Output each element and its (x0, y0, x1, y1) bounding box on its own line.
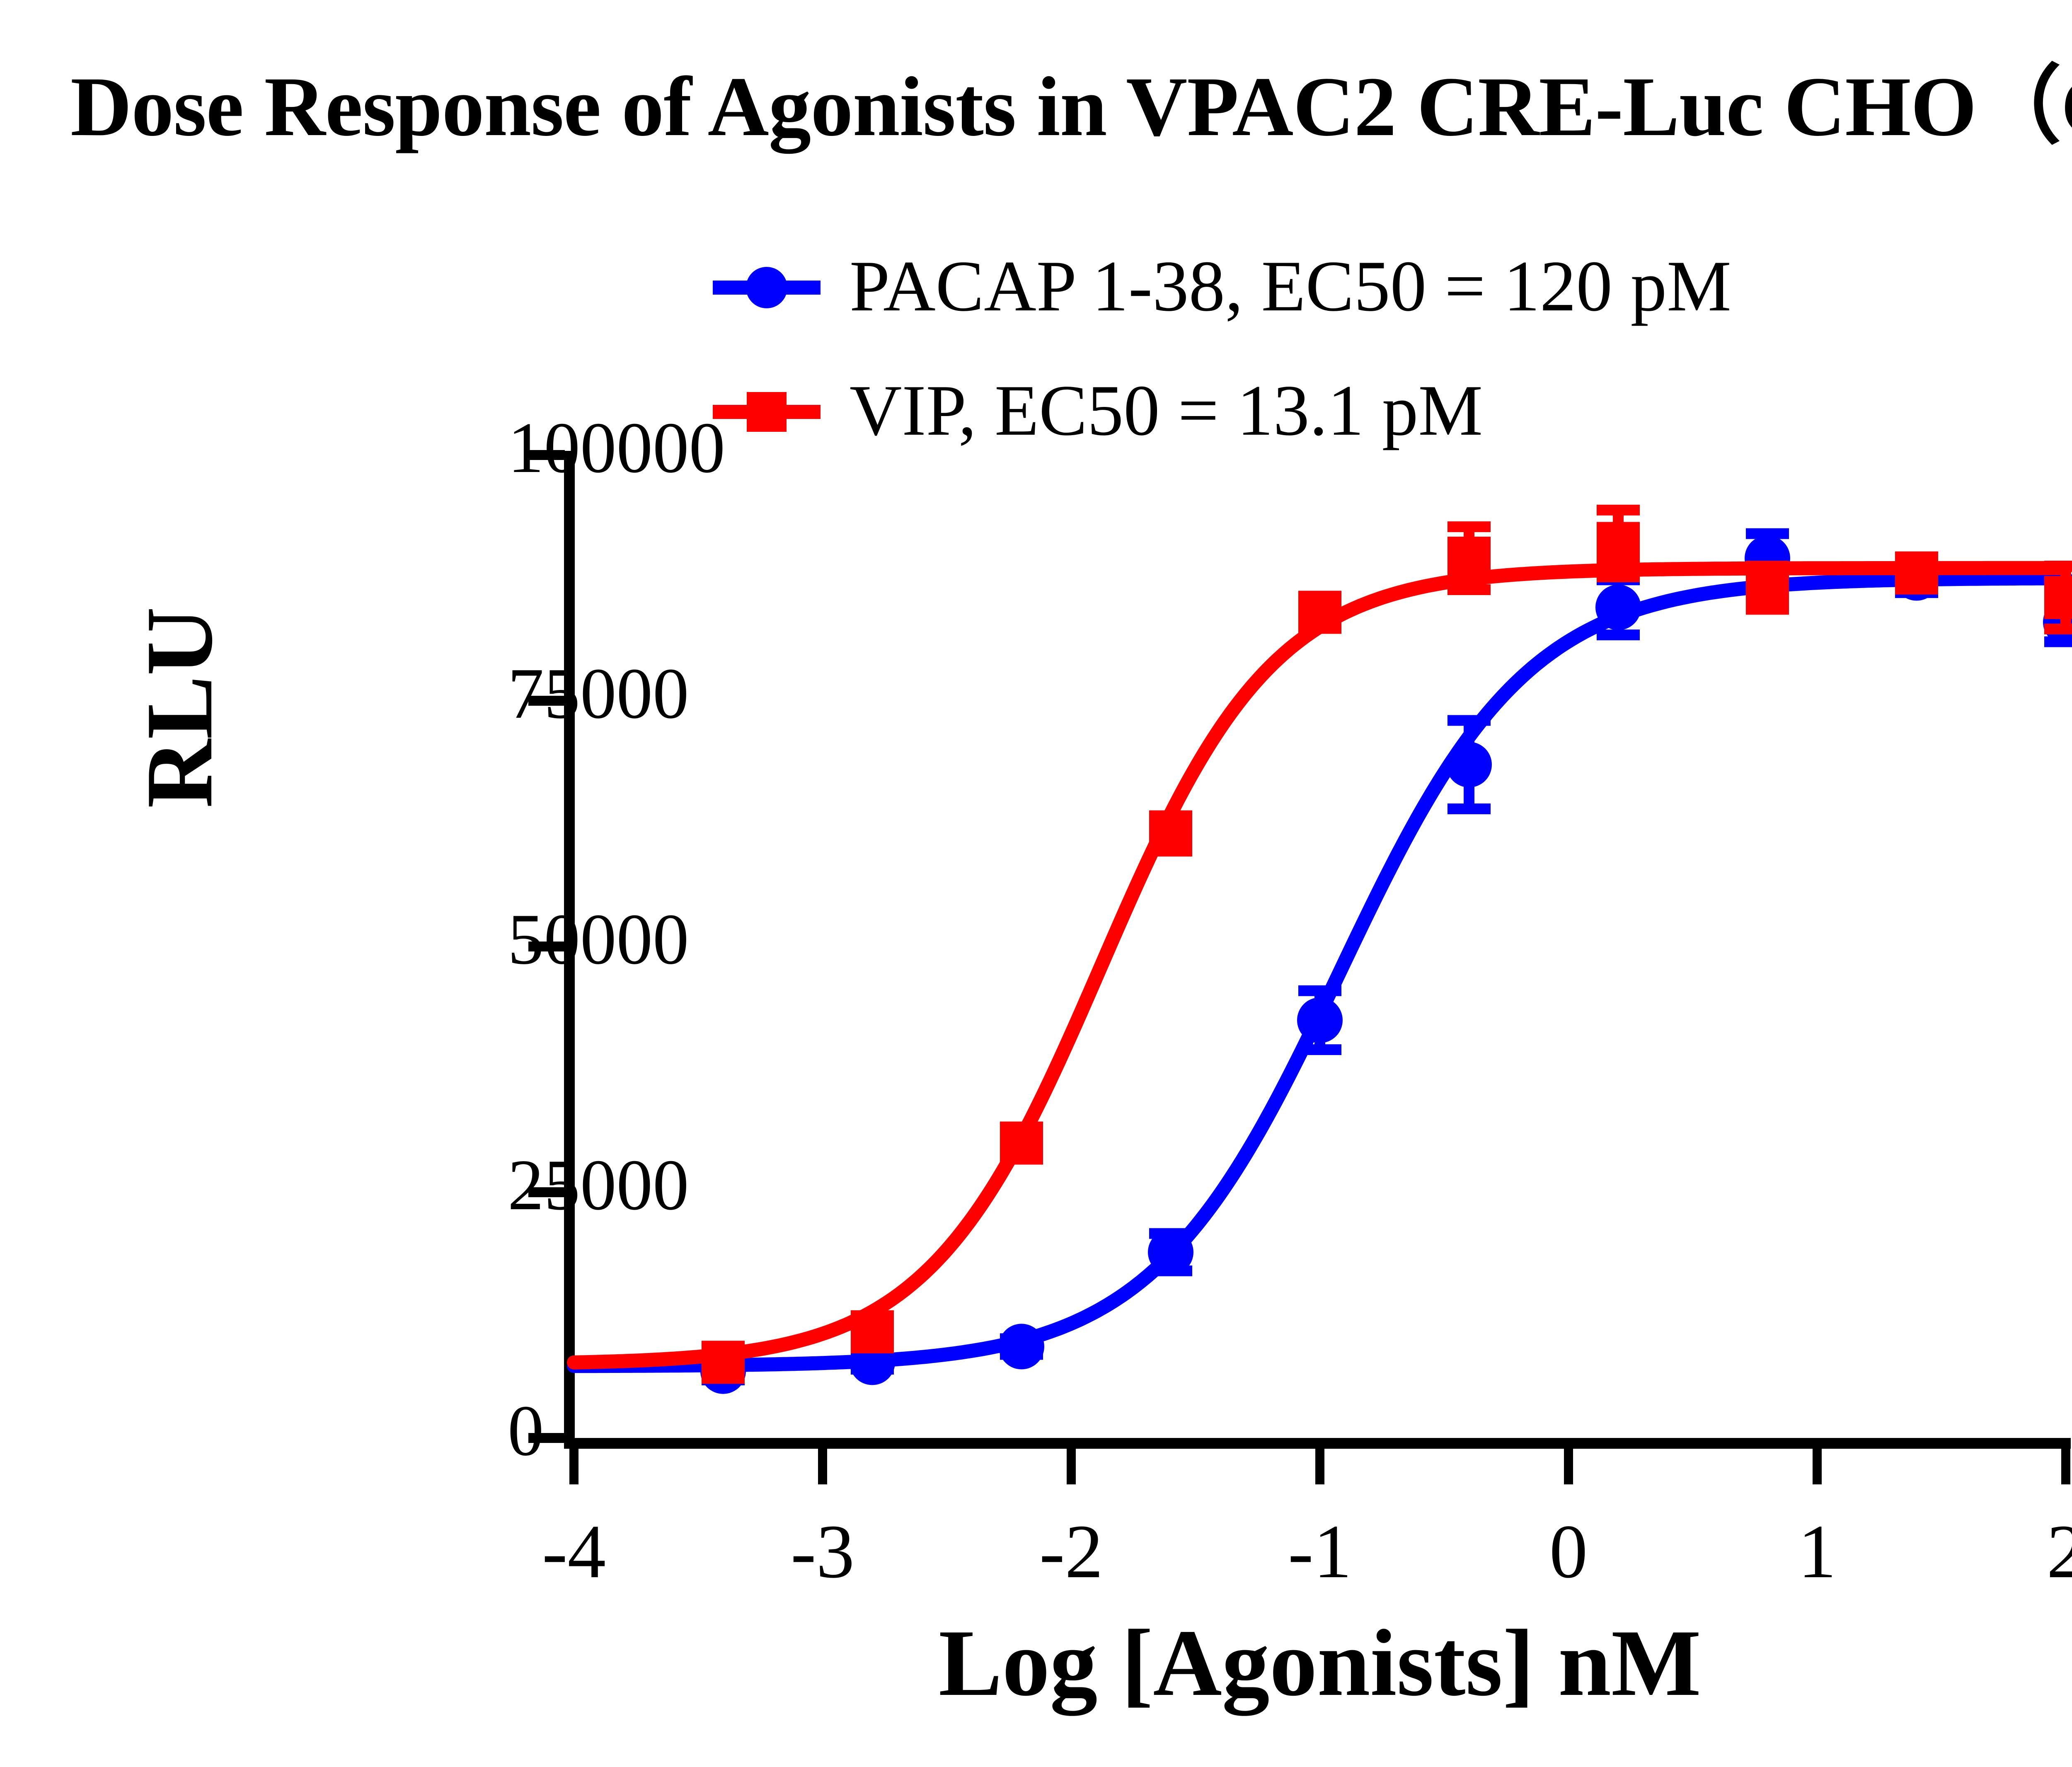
legend-item-vip: VIP, EC50 = 13.1 pM (713, 348, 2072, 472)
x-axis-tick (2061, 1438, 2070, 1484)
legend-marker-square-icon (713, 385, 821, 435)
x-axis-tick-label: -2 (988, 1508, 1154, 1596)
data-point-marker (851, 1310, 894, 1353)
series-curve-pacap (574, 578, 2066, 1366)
x-axis-tick-label: -1 (1237, 1508, 1403, 1596)
x-axis-tick (569, 1438, 579, 1484)
data-point-marker (1895, 552, 1938, 595)
data-point-marker (1597, 522, 1640, 565)
legend-label-pacap: PACAP 1-38, EC50 = 120 pM (850, 250, 1731, 322)
legend-marker-circle-icon (713, 261, 821, 311)
x-axis-tick (1315, 1438, 1324, 1484)
data-curves (574, 455, 2066, 1438)
chart-figure: Dose Response of Agonists in VPAC2 CRE-L… (0, 0, 2072, 1767)
legend-label-vip: VIP, EC50 = 13.1 pM (850, 374, 1483, 447)
data-point-marker (702, 1341, 745, 1384)
x-axis-tick-label: 2 (1983, 1508, 2072, 1596)
chart-legend: PACAP 1-38, EC50 = 120 pM VIP, EC50 = 13… (713, 224, 2072, 472)
x-axis-tick (1067, 1438, 1076, 1484)
x-axis-title: Log [Agonists] nM (574, 1608, 2066, 1718)
data-point-marker (1746, 566, 1789, 609)
plot-area: 0250005000075000100000 -4-3-2-1012 (574, 455, 2066, 1438)
data-point-marker (1298, 591, 1341, 634)
data-point-marker (2044, 576, 2072, 619)
x-axis-tick-label: -4 (491, 1508, 657, 1596)
legend-item-pacap: PACAP 1-38, EC50 = 120 pM (713, 224, 2072, 348)
page-title: Dose Response of Agonists in VPAC2 CRE-L… (70, 62, 2072, 151)
data-point-marker (1148, 1230, 1193, 1275)
data-point-marker (1000, 1121, 1043, 1164)
data-point-marker (1149, 812, 1192, 855)
data-point-marker (1297, 997, 1343, 1043)
x-axis-tick (1813, 1438, 1822, 1484)
x-axis-tick (818, 1438, 827, 1484)
series-curve-vip (574, 568, 2066, 1363)
y-axis-title: RLU (124, 607, 234, 808)
data-point-marker (1447, 537, 1491, 580)
data-point-marker (1595, 585, 1641, 630)
x-axis-tick (1564, 1438, 1573, 1484)
x-axis-tick-label: -3 (740, 1508, 905, 1596)
data-point-marker (999, 1324, 1044, 1369)
x-axis-tick-label: 0 (1486, 1508, 1651, 1596)
data-point-marker (1446, 742, 1492, 787)
x-axis-tick-label: 1 (1734, 1508, 1900, 1596)
